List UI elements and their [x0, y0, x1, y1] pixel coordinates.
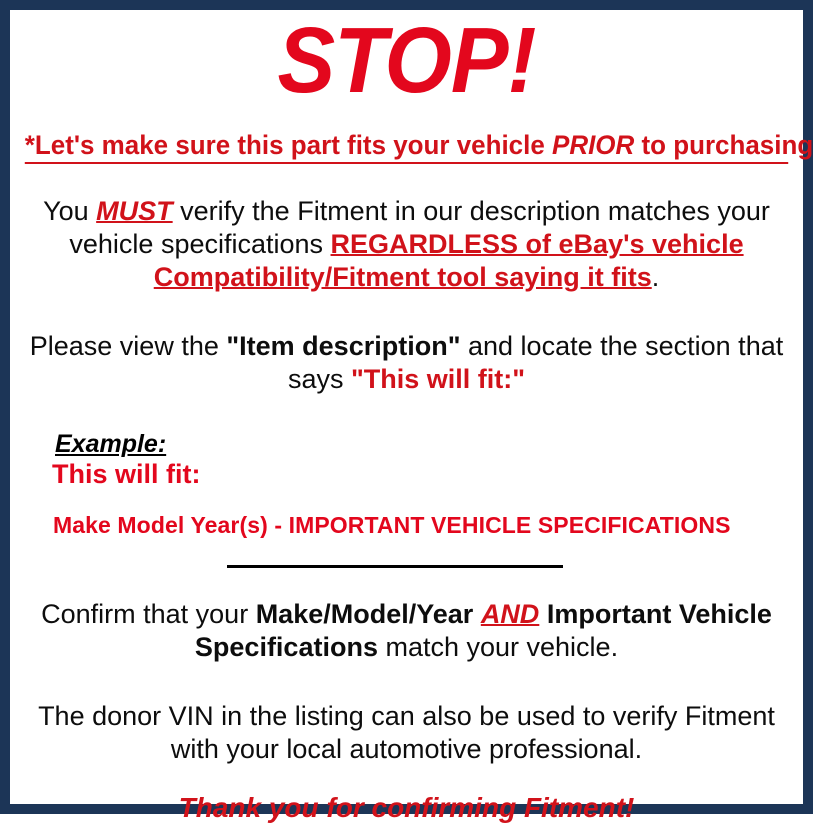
subheadline-text-part1: *Let's make sure this part fits your veh… [25, 130, 552, 160]
must-emphasis: MUST [96, 196, 173, 226]
confirm-text-seg3 [539, 599, 547, 629]
example-label: Example: [55, 430, 166, 458]
example-block: Example: This will fit: Make Model Year(… [17, 430, 796, 538]
example-spec-line: Make Model Year(s) - IMPORTANT VEHICLE S… [53, 512, 796, 538]
confirm-text-seg2 [473, 599, 481, 629]
section-divider [227, 565, 563, 568]
divider-wrapper [17, 564, 796, 568]
make-model-year-emphasis: Make/Model/Year [256, 599, 474, 629]
paragraph-donor-vin: The donor VIN in the listing can also be… [17, 700, 796, 766]
subheadline-text-part2: to purchasing* [634, 130, 813, 160]
paragraph-must-verify: You MUST verify the Fitment in our descr… [17, 195, 796, 294]
confirm-text-seg1: Confirm that your [41, 599, 256, 629]
subheadline-emphasis-prior: PRIOR [552, 130, 634, 160]
must-text-seg3: . [652, 262, 660, 292]
item-description-emphasis: "Item description" [226, 331, 460, 361]
paragraph-please-view: Please view the "Item description" and l… [17, 330, 796, 396]
must-text-seg1: You [43, 196, 96, 226]
fitment-notice-card: STOP! *Let's make sure this part fits yo… [0, 0, 813, 814]
notice-content: STOP! *Let's make sure this part fits yo… [10, 14, 803, 808]
subheadline: *Let's make sure this part fits your veh… [25, 131, 788, 164]
please-text-seg1: Please view the [30, 331, 227, 361]
confirm-text-seg4: match your vehicle. [378, 632, 618, 662]
and-emphasis: AND [481, 599, 540, 629]
page-title: STOP! [44, 14, 768, 107]
example-fit-label: This will fit: [52, 459, 796, 490]
paragraph-confirm: Confirm that your Make/Model/Year AND Im… [17, 598, 796, 664]
this-will-fit-emphasis: "This will fit:" [351, 364, 525, 394]
thank-you-line: Thank you for confirming Fitment! [17, 792, 796, 824]
